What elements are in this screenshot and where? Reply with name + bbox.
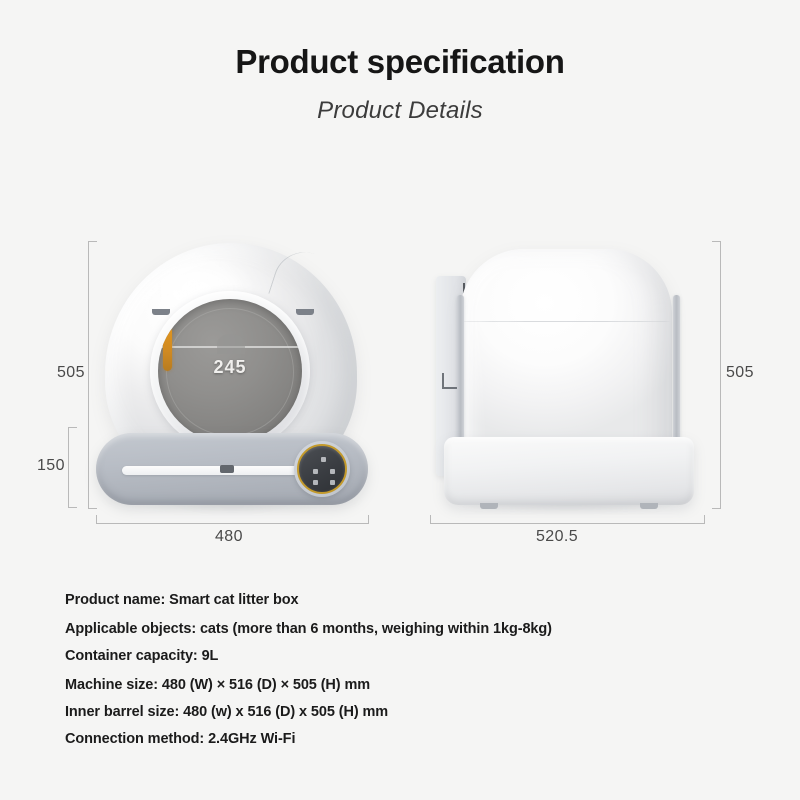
base-foot-left — [152, 309, 170, 315]
spec-line-product-name: Product name: Smart cat litter box — [65, 592, 745, 608]
side-view-illustration — [432, 243, 704, 523]
base-foot-right — [296, 309, 314, 315]
drum-center-hump — [217, 334, 245, 354]
spec-line-applicable-objects: Applicable objects: cats (more than 6 mo… — [65, 621, 745, 637]
inner-drum: 245 — [158, 299, 302, 443]
dial-button-reset-icon — [330, 480, 335, 485]
spec-line-machine-size: Machine size: 480 (W) × 516 (D) × 505 (H… — [65, 677, 745, 693]
drum-handle — [163, 327, 172, 371]
front-view-illustration: 245 — [96, 243, 368, 523]
base-port — [220, 465, 234, 473]
drum-display-value: 245 — [158, 357, 302, 378]
side-base-foot-right — [640, 503, 658, 509]
front-base-height-dimension-bracket — [68, 427, 77, 508]
control-panel-dial[interactable] — [294, 441, 350, 497]
side-depth-dimension-label: 520.5 — [536, 528, 578, 546]
specification-list: Product name: Smart cat litter box Appli… — [65, 592, 745, 760]
dome-seam-line — [268, 244, 334, 310]
front-height-dimension-label: 505 — [57, 364, 85, 382]
front-width-dimension-bracket — [96, 515, 369, 524]
spec-line-container-capacity: Container capacity: 9L — [65, 648, 745, 664]
dial-button-auto-icon — [330, 469, 335, 474]
side-base — [444, 437, 694, 505]
front-height-dimension-bracket — [88, 241, 97, 509]
side-body-seam-line — [462, 321, 670, 322]
dial-gold-ring — [297, 444, 347, 494]
product-dimension-diagram: 245 505 150 480 — [0, 0, 800, 570]
side-base-foot-left — [480, 503, 498, 509]
spec-line-inner-barrel-size: Inner barrel size: 480 (w) x 516 (D) x 5… — [65, 704, 745, 720]
dial-button-empty-icon — [313, 480, 318, 485]
side-height-dimension-label: 505 — [726, 364, 754, 382]
side-depth-dimension-bracket — [430, 515, 705, 524]
side-hinge-bracket-icon — [442, 373, 458, 389]
dial-button-power-icon — [321, 457, 326, 462]
dial-button-clean-icon — [313, 469, 318, 474]
side-height-dimension-bracket — [712, 241, 721, 509]
front-width-dimension-label: 480 — [215, 528, 243, 546]
spec-line-connection-method: Connection method: 2.4GHz Wi-Fi — [65, 731, 745, 747]
front-base-height-dimension-label: 150 — [37, 457, 65, 475]
